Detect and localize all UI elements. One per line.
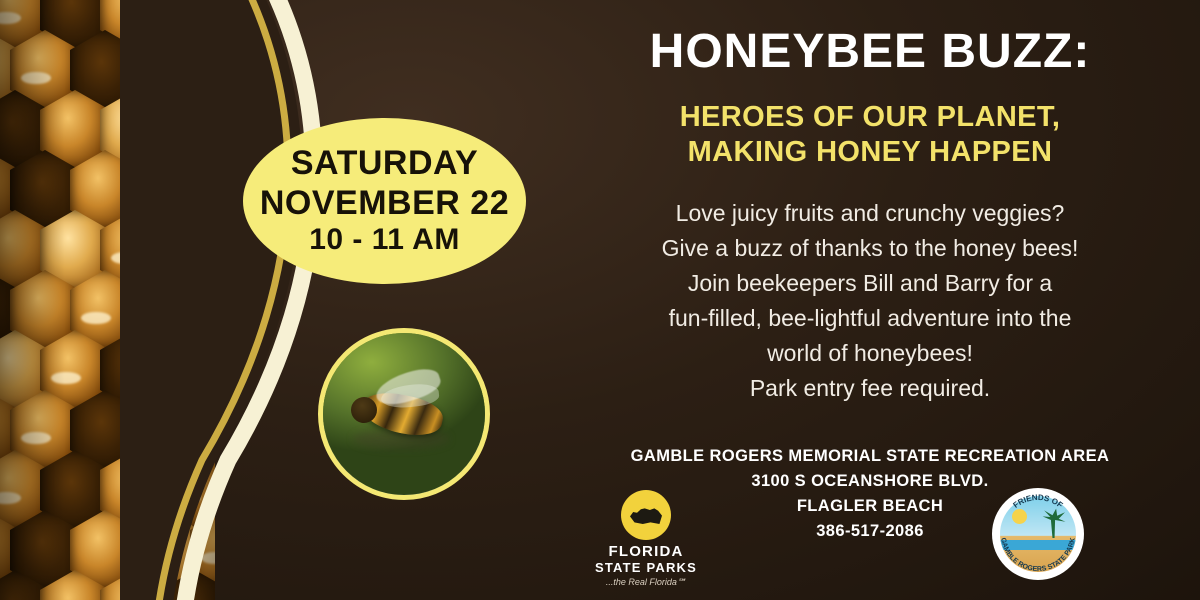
honeybee-photo (318, 328, 490, 500)
date-badge-day: SATURDAY (291, 144, 478, 183)
page-title: HONEYBEE BUZZ: (560, 26, 1180, 78)
venue-name: GAMBLE ROGERS MEMORIAL STATE RECREATION … (560, 444, 1180, 469)
event-flyer: SATURDAY NOVEMBER 22 10 - 11 AM HONEYBEE… (0, 0, 1200, 600)
description-block: Love juicy fruits and crunchy veggies? G… (560, 196, 1180, 406)
bee-photo-background (323, 333, 485, 495)
description-line-3: Join beekeepers Bill and Barry for a (560, 266, 1180, 301)
description-line-6: Park entry fee required. (560, 371, 1180, 406)
florida-state-parks-logo: FLORIDA STATE PARKS ...the Real Florida℠ (588, 490, 704, 582)
svg-text:GAMBLE ROGERS STATE PARK: GAMBLE ROGERS STATE PARK (999, 537, 1077, 573)
date-badge: SATURDAY NOVEMBER 22 10 - 11 AM (243, 118, 526, 284)
fsp-name-line-2: STATE PARKS (588, 560, 704, 575)
headline-block: HONEYBEE BUZZ: HEROES OF OUR PLANET, MAK… (560, 26, 1180, 171)
subtitle-line-1: HEROES OF OUR PLANET, (680, 101, 1061, 133)
description-line-2: Give a buzz of thanks to the honey bees! (560, 231, 1180, 266)
subtitle: HEROES OF OUR PLANET, MAKING HONEY HAPPE… (560, 100, 1180, 171)
date-badge-date: NOVEMBER 22 (260, 184, 509, 223)
fsp-name-line-1: FLORIDA (588, 543, 704, 560)
honeycomb-shading (0, 0, 215, 600)
panther-disc-icon (621, 490, 671, 540)
description-line-5: world of honeybees! (560, 336, 1180, 371)
svg-text:FRIENDS OF: FRIENDS OF (1011, 493, 1064, 510)
friends-of-gamble-rogers-seal: FRIENDS OF GAMBLE ROGERS STATE PARK (992, 488, 1084, 580)
date-badge-time: 10 - 11 AM (309, 223, 460, 258)
panther-silhouette-icon (630, 504, 662, 524)
honeycomb-photo (0, 0, 215, 600)
seal-ring-text: FRIENDS OF GAMBLE ROGERS STATE PARK (992, 488, 1084, 580)
description-line-1: Love juicy fruits and crunchy veggies? (560, 196, 1180, 231)
subtitle-line-2: MAKING HONEY HAPPEN (688, 136, 1053, 168)
description-line-4: fun-filled, bee-lightful adventure into … (560, 301, 1180, 336)
fsp-tagline: ...the Real Florida℠ (588, 577, 704, 588)
